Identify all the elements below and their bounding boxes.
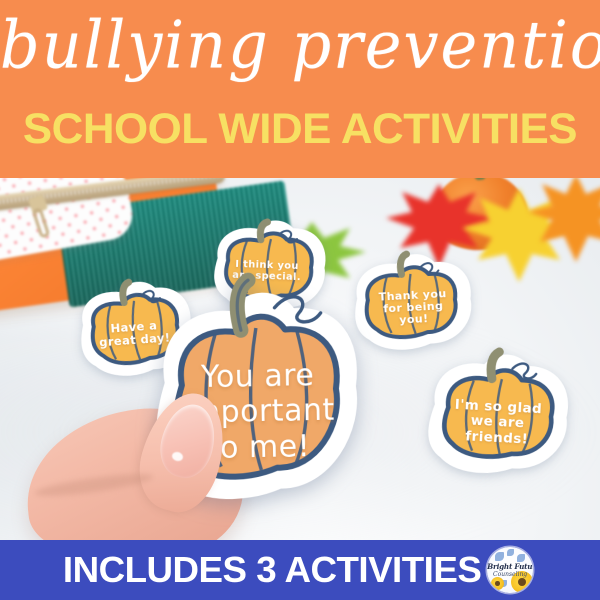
- brand-name-line2: Counseling: [487, 571, 533, 578]
- logo-sunflower-icon: [491, 577, 504, 590]
- brand-logo[interactable]: Bright Futures Counseling: [487, 547, 533, 593]
- poster-canvas: bullying prevention SCHOOL WIDE ACTIVITI…: [0, 0, 600, 600]
- footer-band: INCLUDES 3 ACTIVITIES Bright Futures Cou…: [0, 540, 600, 600]
- sticker-im-so-glad-we-are-friends[interactable]: I'm so glad we are friends!: [421, 348, 575, 482]
- logo-blue-floret-icon: [495, 552, 504, 561]
- header-band: bullying prevention SCHOOL WIDE ACTIVITI…: [0, 0, 600, 178]
- page-title-bold: SCHOOL WIDE ACTIVITIES: [0, 108, 600, 151]
- logo-blue-floret-icon: [517, 554, 525, 562]
- orange-leaf-icon: [528, 178, 600, 264]
- product-photo: Have a great day! I think you are specia…: [0, 178, 600, 540]
- logo-blue-floret-icon: [507, 549, 514, 556]
- footer-text: INCLUDES 3 ACTIVITIES: [63, 552, 481, 588]
- page-title-script: bullying prevention: [0, 12, 600, 78]
- brand-name-line1: Bright Futures: [487, 562, 533, 571]
